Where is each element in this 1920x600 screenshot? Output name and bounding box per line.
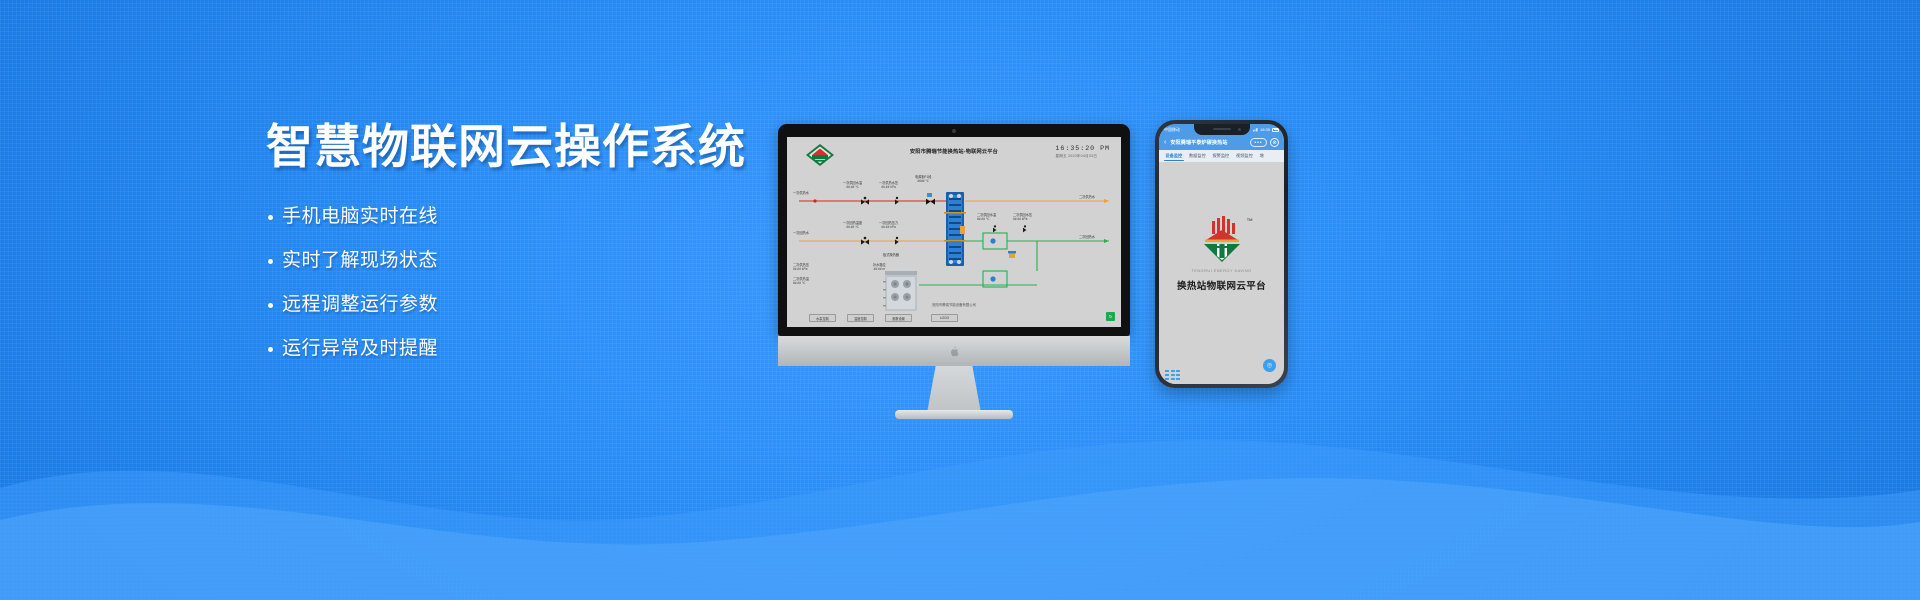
front-camera-icon [1238, 128, 1241, 131]
webcam-icon [952, 129, 956, 133]
bullet-dot-icon [268, 215, 273, 220]
list-item: 远程调整运行参数 [282, 295, 786, 317]
tag-readout: 二次供热压##.## kPa [793, 263, 809, 272]
platform-title: 换热站物联网云平台 [1177, 278, 1266, 292]
keypad-icon[interactable] [1165, 370, 1180, 381]
scada-time: 16:35:20 PM [1055, 145, 1110, 152]
more-menu-button[interactable]: ••• [1250, 138, 1267, 147]
bullet-label: 远程调整运行参数 [282, 294, 438, 315]
page-title: 智慧物联网云操作系统 [266, 120, 786, 175]
bullet-label: 实时了解现场状态 [282, 250, 438, 271]
brand-block: TM TENGRUI ENERGY SAVING 换热站物联网云平台 [1159, 216, 1284, 292]
tag-readout: 一次回热压力##.## kPa [879, 221, 898, 230]
tab-device-monitor[interactable]: 设备监控 [1162, 150, 1186, 162]
tag-label: 一次供热水 [793, 191, 809, 195]
close-icon[interactable]: ⊗ [1270, 138, 1279, 147]
phone-screen: 中国移动 16:35 ‹ 安阳腾瑞平泰炉碳换热站 ••• ⊗ [1159, 124, 1284, 384]
bullet-dot-icon [268, 303, 273, 308]
scada-clock: 16:35:20 PM 星期五 2020年04月03日 [1055, 145, 1110, 159]
temperature-control-button[interactable]: 温度控制 [847, 314, 874, 322]
pump-control-button[interactable]: 水泵控制 [809, 314, 836, 322]
chevron-left-icon[interactable]: ‹ [1164, 139, 1166, 146]
phone-content: TM TENGRUI ENERGY SAVING 换热站物联网云平台 ⌾ [1159, 162, 1284, 384]
bullet-label: 运行异常及时提醒 [282, 338, 438, 359]
tag-readout: 一次回热温度##.## ℃ [843, 221, 862, 230]
brand-name-en: TENGRUI ENERGY SAVING [1191, 268, 1251, 273]
speaker-icon [1213, 128, 1231, 130]
desktop-monitor-mockup: 安阳市腾瑞节能换热站-物联网云平台 16:35:20 PM 星期五 2020年0… [778, 124, 1130, 419]
scada-dashboard: 安阳市腾瑞节能换热站-物联网云平台 16:35:20 PM 星期五 2020年0… [787, 137, 1121, 327]
hero-banner: 智慧物联网云操作系统 手机电脑实时在线 实时了解现场状态 远程调整运行参数 运行… [0, 0, 1920, 600]
trademark-label: TM [1247, 217, 1253, 222]
headline-regular: 操作系统 [554, 120, 746, 173]
parameter-settings-button[interactable]: 参数设置 [885, 314, 912, 322]
tag-label: 一次回热水 [793, 231, 809, 235]
scada-footer: 安阳市腾瑞节能设备有限公司 水泵控制 温度控制 参数设置 LOGO ↻ [787, 311, 1121, 327]
tab-more[interactable]: 增 [1256, 150, 1267, 162]
feature-bullet-list: 手机电脑实时在线 实时了解现场状态 远程调整运行参数 运行异常及时提醒 [266, 207, 786, 361]
bullet-dot-icon [268, 347, 273, 352]
heat-exchanger-icon [944, 192, 966, 266]
carrier-label: 中国移动 [1164, 127, 1180, 133]
apple-logo-icon [947, 346, 961, 357]
logo-button[interactable]: LOGO [931, 314, 958, 322]
tag-readout: 二次供热温##.## ℃ [793, 277, 809, 286]
tab-video-monitor[interactable]: 视频监控 [1233, 150, 1257, 162]
tag-label: 板式换热器 [883, 253, 899, 257]
phone-tab-bar: 设备监控 数据监控 报警监控 视频监控 增 [1159, 150, 1284, 162]
tag-readout: 一次供热水压##.## kPa [879, 181, 898, 190]
nav-actions: ••• ⊗ [1250, 138, 1279, 147]
tag-readout: 二次供回水压##.## kPa [1013, 213, 1032, 222]
smartphone-mockup: 中国移动 16:35 ‹ 安阳腾瑞平泰炉碳换热站 ••• ⊗ [1155, 120, 1288, 388]
tag-readout: 二次供回水温##.## ℃ [977, 213, 996, 222]
tag-label: 二次供热水 [1079, 195, 1095, 199]
phone-notch [1194, 124, 1250, 135]
nav-title: 安阳腾瑞平泰炉碳换热站 [1170, 139, 1227, 146]
tab-data-monitor[interactable]: 数据监控 [1186, 150, 1210, 162]
scada-date: 星期五 2020年04月03日 [1055, 154, 1110, 159]
monitor-stand [927, 366, 981, 413]
refresh-icon[interactable]: ↻ [1106, 312, 1115, 321]
phone-navbar: ‹ 安阳腾瑞平泰炉碳换热站 ••• ⊗ [1159, 135, 1284, 150]
scada-header: 安阳市腾瑞节能换热站-物联网云平台 16:35:20 PM 星期五 2020年0… [787, 137, 1121, 167]
signal-icon [1253, 128, 1258, 132]
hero-copy: 智慧物联网云操作系统 手机电脑实时在线 实时了解现场状态 远程调整运行参数 运行… [266, 120, 786, 361]
company-logo-icon [805, 143, 835, 167]
monitor-base [895, 410, 1013, 419]
footer-company-note: 安阳市腾瑞节能设备有限公司 [787, 302, 1121, 307]
bullet-label: 手机电脑实时在线 [282, 206, 438, 227]
tab-alarm-monitor[interactable]: 报警监控 [1209, 150, 1233, 162]
tag-readout: 一次供回水温##.## ℃ [843, 181, 862, 190]
headline-strong: 智慧物联网云 [266, 120, 554, 173]
monitor-bezel: 安阳市腾瑞节能换热站-物联网云平台 16:35:20 PM 星期五 2020年0… [778, 124, 1130, 336]
monitor-screen: 安阳市腾瑞节能换热站-物联网云平台 16:35:20 PM 星期五 2020年0… [787, 137, 1121, 327]
brand-logo: TM [1196, 216, 1248, 266]
scada-flow-diagram: 一次供热水 一次供回水温##.## ℃ 一次供热水压##.## kPa 电源柜F… [787, 167, 1121, 311]
phone-frame: 中国移动 16:35 ‹ 安阳腾瑞平泰炉碳换热站 ••• ⊗ [1155, 120, 1288, 388]
list-item: 手机电脑实时在线 [282, 207, 786, 229]
battery-icon [1272, 128, 1279, 132]
tengrui-logo-icon [1196, 216, 1248, 266]
list-item: 运行异常及时提醒 [282, 339, 786, 361]
tag-readout: 电源柜F1段#### ℃ [915, 175, 931, 184]
status-indicators: 16:35 [1253, 127, 1279, 132]
tag-label: 二次回热水 [1079, 235, 1095, 239]
bullet-dot-icon [268, 259, 273, 264]
chat-icon[interactable]: ⌾ [1263, 359, 1276, 372]
status-time: 16:35 [1260, 127, 1270, 132]
list-item: 实时了解现场状态 [282, 251, 786, 273]
